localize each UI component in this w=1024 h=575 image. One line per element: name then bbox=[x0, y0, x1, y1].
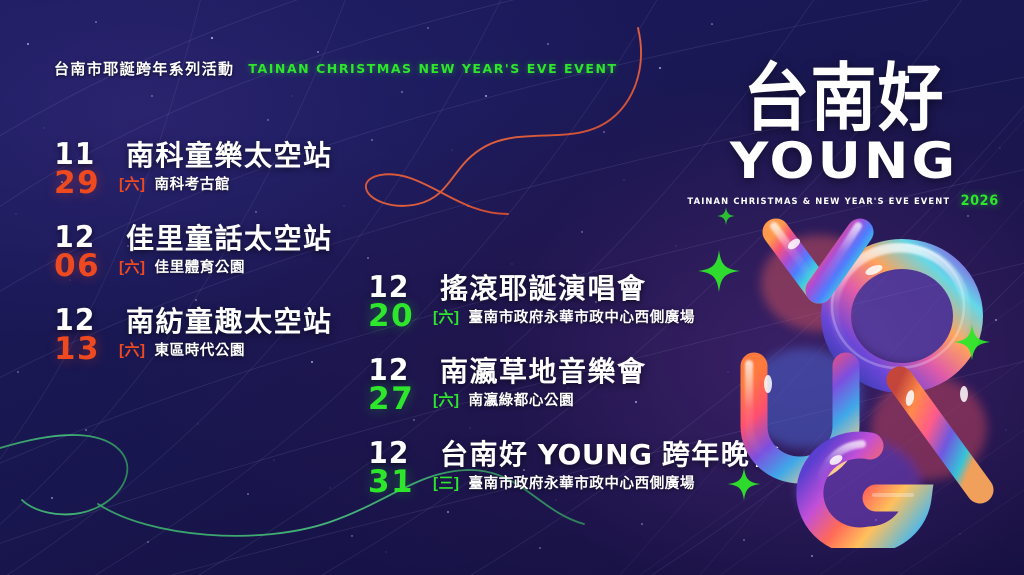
event-venue: 東區時代公園 bbox=[155, 339, 246, 360]
header-title-en: TAINAN CHRISTMAS NEW YEAR'S EVE EVENT bbox=[248, 61, 617, 76]
event-bottom-row: 20 [六] 臺南市政府永華市政中心西側廣場 bbox=[368, 301, 780, 332]
event-day: 20 bbox=[368, 301, 425, 332]
brand-logo: 台南好 YOUNG TAINAN CHRISTMAS & NEW YEAR'S … bbox=[710, 62, 978, 209]
event-venue: 佳里體育公園 bbox=[155, 256, 246, 277]
event-title: 佳里童話太空站 bbox=[126, 225, 333, 253]
event-bottom-row: 13 [六] 東區時代公園 bbox=[54, 334, 333, 365]
event-column-left: 11 南科童樂太空站 29 [六] 南科考古館 12 佳里童話太空站 06 [六… bbox=[54, 140, 333, 365]
event-column-middle: 12 搖滾耶誕演唱會 20 [六] 臺南市政府永華市政中心西側廣場 12 南瀛草… bbox=[368, 273, 780, 498]
event-item[interactable]: 12 台南好 YOUNG 跨年晚會 31 [三] 臺南市政府永華市政中心西側廣場 bbox=[368, 439, 780, 498]
event-bottom-row: 27 [六] 南瀛綠都心公園 bbox=[368, 384, 780, 415]
event-title: 南瀛草地音樂會 bbox=[440, 358, 647, 386]
event-venue: 臺南市政府永華市政中心西側廣場 bbox=[469, 306, 696, 327]
event-venue: 臺南市政府永華市政中心西側廣場 bbox=[469, 472, 696, 493]
event-weekday: [六] bbox=[433, 389, 460, 410]
event-weekday: [六] bbox=[119, 173, 146, 194]
event-top-row: 12 搖滾耶誕演唱會 bbox=[368, 273, 780, 303]
event-item[interactable]: 12 佳里童話太空站 06 [六] 佳里體育公園 bbox=[54, 223, 333, 282]
event-top-row: 12 南瀛草地音樂會 bbox=[368, 356, 780, 386]
page-header: 台南市耶誕跨年系列活動 TAINAN CHRISTMAS NEW YEAR'S … bbox=[54, 58, 618, 79]
young-3d-sculpture bbox=[724, 198, 1024, 548]
event-top-row: 12 台南好 YOUNG 跨年晚會 bbox=[368, 439, 780, 469]
event-weekday: [六] bbox=[119, 256, 146, 277]
event-title: 搖滾耶誕演唱會 bbox=[440, 275, 647, 303]
event-bottom-row: 06 [六] 佳里體育公園 bbox=[54, 251, 333, 282]
event-day: 29 bbox=[54, 168, 111, 199]
event-weekday: [六] bbox=[433, 306, 460, 327]
event-day: 13 bbox=[54, 334, 111, 365]
logo-young: YOUNG bbox=[702, 139, 986, 184]
event-title: 南紡童趣太空站 bbox=[126, 308, 333, 336]
header-title-zh: 台南市耶誕跨年系列活動 bbox=[54, 58, 234, 79]
event-bottom-row: 29 [六] 南科考古館 bbox=[54, 168, 333, 199]
event-item[interactable]: 12 搖滾耶誕演唱會 20 [六] 臺南市政府永華市政中心西側廣場 bbox=[368, 273, 780, 332]
event-title: 南科童樂太空站 bbox=[126, 142, 333, 170]
event-item[interactable]: 12 南紡童趣太空站 13 [六] 東區時代公園 bbox=[54, 306, 333, 365]
event-day: 06 bbox=[54, 251, 111, 282]
event-bottom-row: 31 [三] 臺南市政府永華市政中心西側廣場 bbox=[368, 467, 780, 498]
event-item[interactable]: 11 南科童樂太空站 29 [六] 南科考古館 bbox=[54, 140, 333, 199]
sculpture-letters bbox=[724, 198, 1024, 548]
event-day: 31 bbox=[368, 467, 425, 498]
event-venue: 南瀛綠都心公園 bbox=[469, 389, 575, 410]
event-day: 27 bbox=[368, 384, 425, 415]
event-weekday: [三] bbox=[433, 472, 460, 493]
event-weekday: [六] bbox=[119, 339, 146, 360]
logo-chinese: 台南好 bbox=[710, 62, 978, 134]
event-venue: 南科考古館 bbox=[155, 173, 231, 194]
event-title-young: YOUNG bbox=[538, 438, 653, 471]
event-title-part: 台南好 bbox=[440, 439, 538, 470]
event-item[interactable]: 12 南瀛草地音樂會 27 [六] 南瀛綠都心公園 bbox=[368, 356, 780, 415]
